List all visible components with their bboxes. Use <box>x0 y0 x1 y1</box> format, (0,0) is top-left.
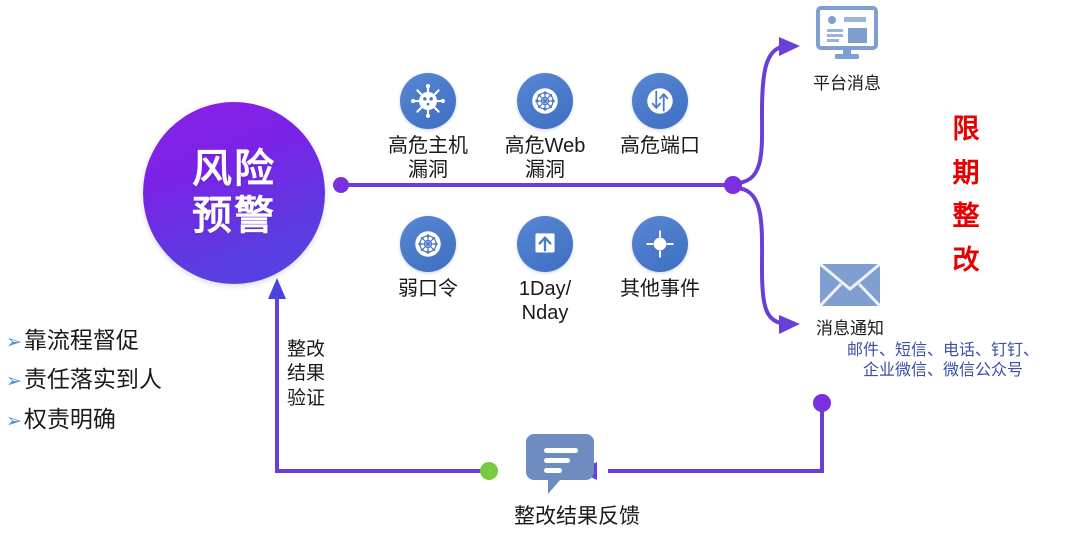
risk-title-line-2: 预警 <box>192 193 276 240</box>
branch-down-line <box>735 188 786 324</box>
arrow-bullet-icon: ➢ <box>6 372 22 391</box>
principle-item: ➢ 责任落实到人 <box>6 367 246 392</box>
risk-title-line-1: 风险 <box>192 146 276 193</box>
principles-list: ➢ 靠流程督促 ➢ 责任落实到人 ➢ 权责明确 <box>6 328 246 446</box>
feedback-green-dot <box>480 462 498 480</box>
junction-dot <box>724 176 742 194</box>
threat-tile-label: 高危端口 <box>601 135 719 159</box>
principle-item: ➢ 权责明确 <box>6 407 246 432</box>
deadline-char: 限 <box>946 108 986 152</box>
deadline-rectify-text: 限 期 整 改 <box>946 108 986 283</box>
diagram-canvas: 风险 预警 <box>0 0 1080 542</box>
threat-tile-web-vuln[interactable]: 高危Web 漏洞 <box>486 73 604 182</box>
deadline-char: 整 <box>946 195 986 239</box>
principle-label: 靠流程督促 <box>24 328 139 353</box>
verify-flow-line: 整改 <box>287 338 329 362</box>
channel-detail-text: 邮件、短信、电话、钉钉、 企业微信、微信公众号 <box>812 341 1074 381</box>
port-arrows-icon <box>632 73 688 129</box>
speech-bubble-icon <box>524 428 596 505</box>
arrow-bullet-icon: ➢ <box>6 412 22 431</box>
channel-label: 平台消息 <box>810 69 884 94</box>
threat-tile-host-vuln[interactable]: 高危主机 漏洞 <box>369 73 487 182</box>
deadline-char: 改 <box>946 239 986 283</box>
verify-flow-line: 验证 <box>287 387 329 411</box>
channel-label: 消息通知 <box>816 314 884 339</box>
channel-message-notify[interactable]: 消息通知 <box>816 262 884 339</box>
risk-warning-node[interactable]: 风险 预警 <box>143 102 325 284</box>
verify-flow-label: 整改 结果 验证 <box>287 338 329 411</box>
upload-box-icon <box>517 216 573 272</box>
threat-tile-port[interactable]: 高危端口 <box>601 73 719 159</box>
verify-loop-arrowhead <box>268 278 286 299</box>
branch-down-arrowhead <box>779 315 800 334</box>
threat-tile-label: 弱口令 <box>369 278 487 302</box>
threat-tile-1day-nday[interactable]: 1Day/ Nday <box>486 216 604 325</box>
arrow-bullet-icon: ➢ <box>6 333 22 352</box>
threat-tile-label: 其他事件 <box>601 278 719 302</box>
threat-tile-weak-password[interactable]: 弱口令 <box>369 216 487 302</box>
threat-tile-label: 1Day/ Nday <box>486 278 604 325</box>
spine-start-dot <box>333 177 349 193</box>
crosshair-icon <box>632 216 688 272</box>
feedback-label: 整改结果反馈 <box>487 500 667 530</box>
principle-label: 权责明确 <box>24 407 116 432</box>
network-icon <box>517 73 573 129</box>
threat-tile-label: 高危Web 漏洞 <box>486 135 604 182</box>
principle-item: ➢ 靠流程督促 <box>6 328 246 353</box>
deadline-char: 期 <box>946 152 986 196</box>
envelope-icon <box>819 262 881 313</box>
feedback-source-dot <box>813 394 831 412</box>
principle-label: 责任落实到人 <box>24 367 162 392</box>
threat-tile-label: 高危主机 漏洞 <box>369 135 487 182</box>
monitor-icon <box>810 6 884 67</box>
branch-up-arrowhead <box>779 37 800 56</box>
virus-icon <box>400 73 456 129</box>
feedback-return-line <box>608 405 822 471</box>
feedback-node[interactable] <box>524 428 596 505</box>
channel-platform-message[interactable]: 平台消息 <box>810 6 884 94</box>
threat-tile-other-events[interactable]: 其他事件 <box>601 216 719 302</box>
network-icon <box>400 216 456 272</box>
verify-flow-line: 结果 <box>287 362 329 386</box>
branch-up-line <box>735 46 786 183</box>
